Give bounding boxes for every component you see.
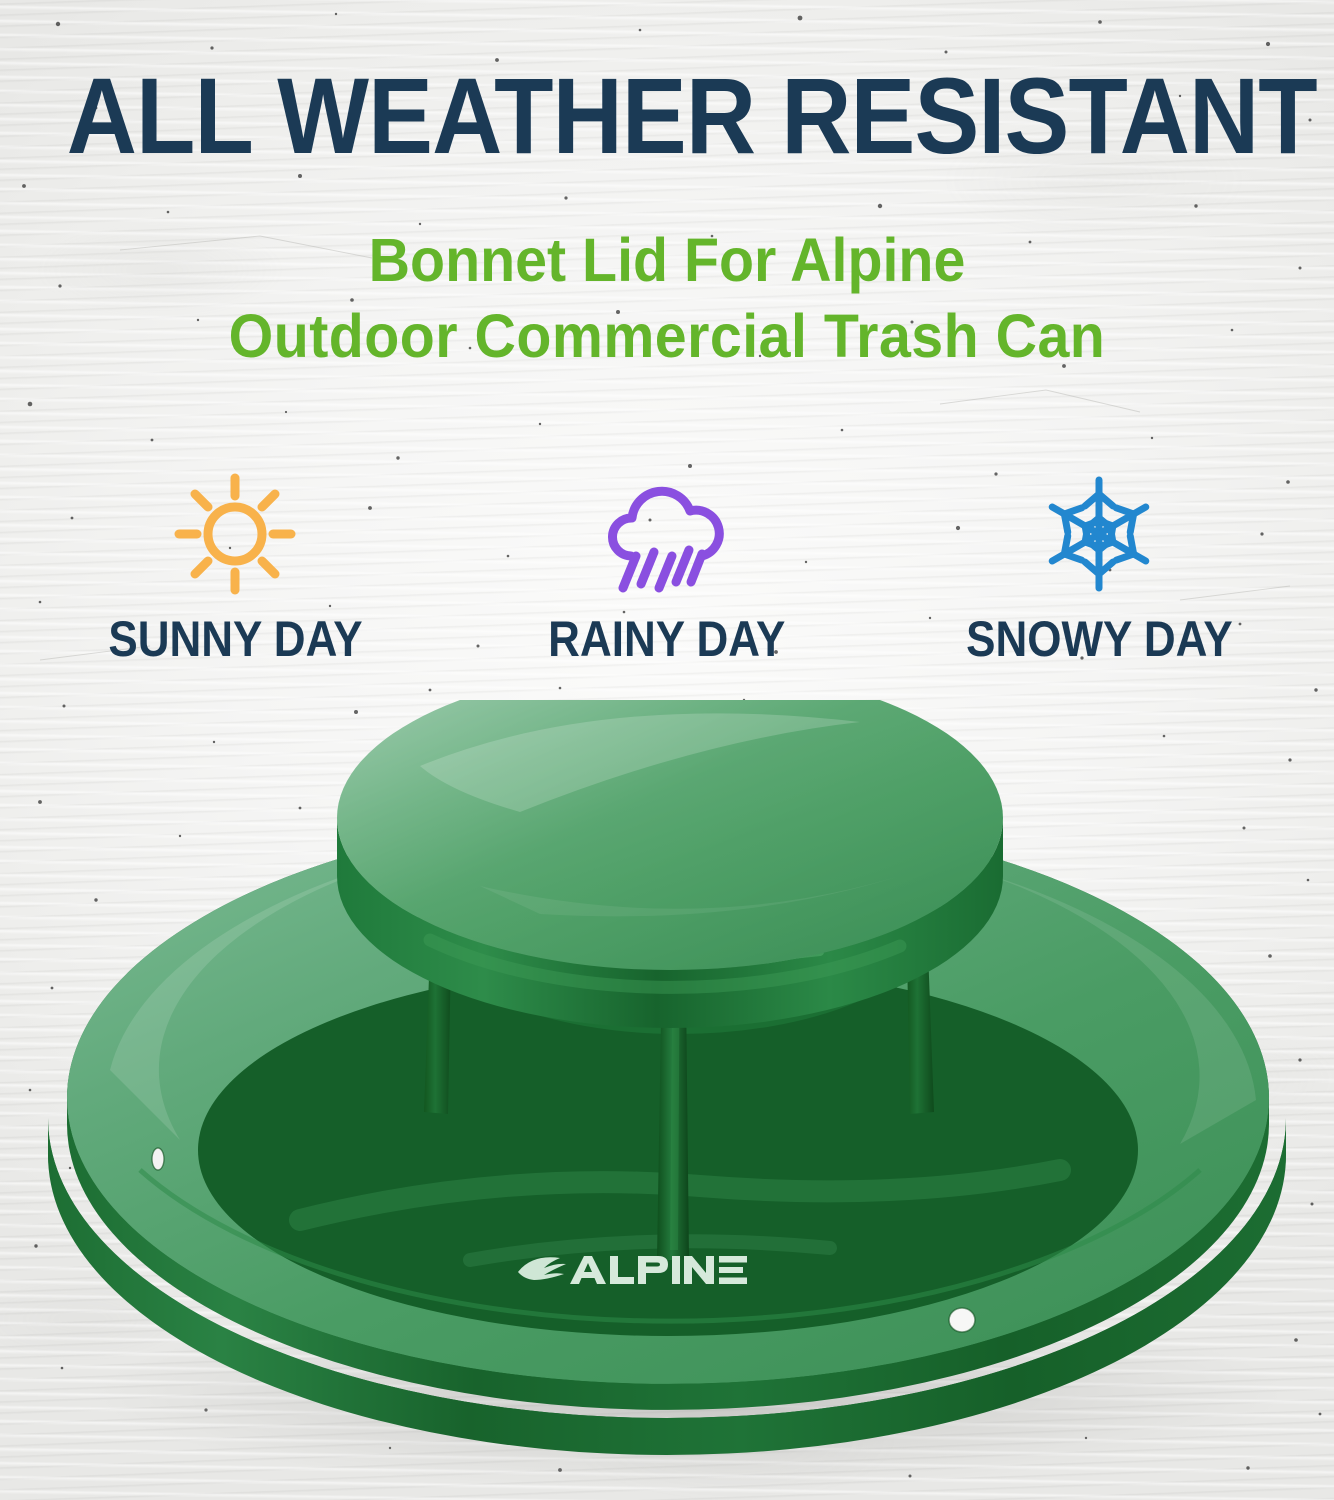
feature-label-sunny: SUNNY DAY xyxy=(108,614,362,664)
snowflake-icon xyxy=(1037,470,1161,598)
feature-label-rainy: RAINY DAY xyxy=(548,614,785,664)
feature-snowy-day: SNOWY DAY xyxy=(919,470,1279,664)
page-headline: ALL WEATHER RESISTANT xyxy=(67,62,1268,170)
subtitle-line-1: Bonnet Lid For Alpine xyxy=(40,222,1294,298)
subtitle-line-2: Outdoor Commercial Trash Can xyxy=(40,298,1294,374)
sun-icon xyxy=(173,470,297,598)
page-subtitle: Bonnet Lid For Alpine Outdoor Commercial… xyxy=(40,222,1294,374)
weather-feature-row: SUNNY DAY RAINY DAY xyxy=(55,470,1279,664)
feature-rainy-day: RAINY DAY xyxy=(487,470,847,664)
feature-sunny-day: SUNNY DAY xyxy=(55,470,415,664)
product-image-bonnet-lid xyxy=(0,700,1334,1500)
product-marketing-image: ALL WEATHER RESISTANT Bonnet Lid For Alp… xyxy=(0,0,1334,1500)
feature-label-snowy: SNOWY DAY xyxy=(966,614,1233,664)
rain-cloud-icon xyxy=(601,470,733,598)
